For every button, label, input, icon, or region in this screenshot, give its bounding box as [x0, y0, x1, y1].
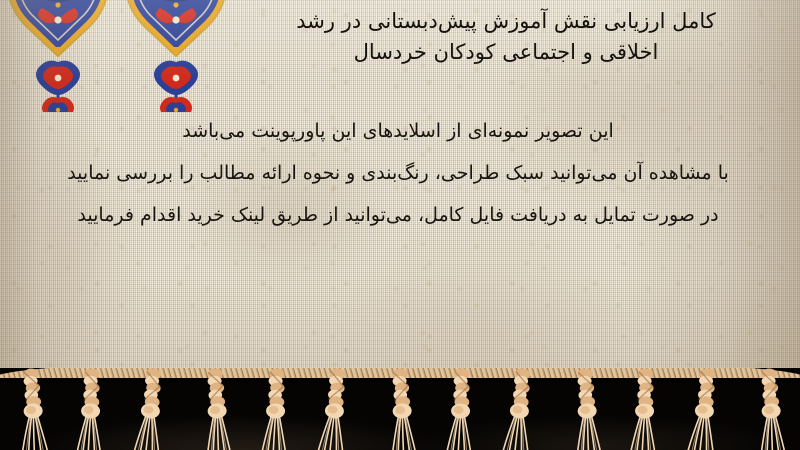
carpet-tassel	[680, 368, 736, 450]
slide-body-line-1: این تصویر نمونه‌ای از اسلایدهای این پاور…	[18, 110, 778, 152]
carpet-tassel	[741, 368, 797, 450]
slide-body-line-3: در صورت تمایل به دریافت فایل کامل، می‌تو…	[18, 194, 778, 236]
carpet-tassel	[372, 368, 428, 450]
slide-title-line-1: کامل ارزیابی نقش آموزش پیش‌دبستانی در رش…	[236, 6, 776, 37]
carpet-tassel	[618, 368, 674, 450]
carpet-selvedge-edge	[0, 368, 800, 378]
presentation-slide: کامل ارزیابی نقش آموزش پیش‌دبستانی در رش…	[0, 0, 800, 450]
slide-body-text: این تصویر نمونه‌ای از اسلایدهای این پاور…	[18, 110, 778, 236]
slide-body-line-2: با مشاهده آن می‌توانید سبک طراحی، رنگ‌بن…	[18, 152, 778, 194]
carpet-tassel	[3, 368, 59, 450]
carpet-tassel	[557, 368, 613, 450]
carpet-tassel	[249, 368, 305, 450]
carpet-tassel	[310, 368, 366, 450]
slide-title-line-2: اخلاقی و اجتماعی کودکان خردسال	[236, 37, 776, 68]
carpet-tassel	[495, 368, 551, 450]
carpet-tassel	[126, 368, 182, 450]
slide-title: کامل ارزیابی نقش آموزش پیش‌دبستانی در رش…	[236, 6, 776, 68]
carpet-tassel	[434, 368, 490, 450]
carpet-tassel	[187, 368, 243, 450]
carpet-fringe-band	[0, 368, 800, 450]
carpet-tassel	[64, 368, 120, 450]
persian-carpet-medallion-icon-right	[120, 0, 232, 112]
persian-carpet-medallion-icon-left	[2, 0, 114, 112]
